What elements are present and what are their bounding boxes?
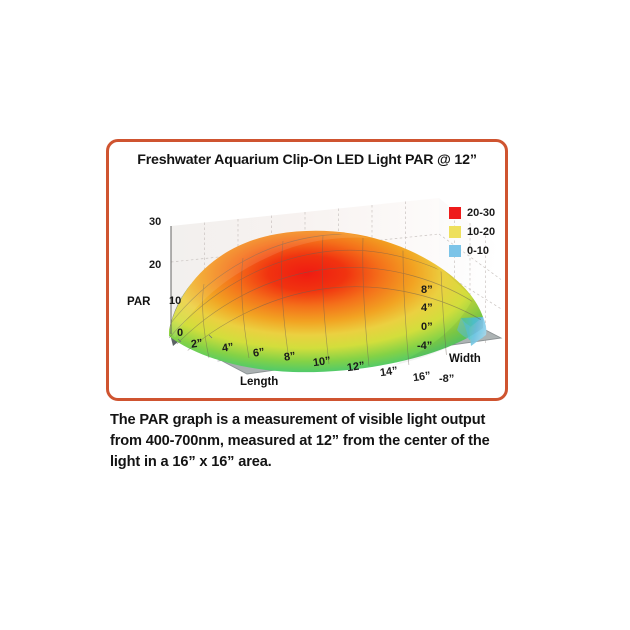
legend-label-0-10: 0-10	[467, 245, 489, 257]
width-tick-neg8: -8”	[439, 373, 454, 385]
length-axis-title: Length	[240, 376, 278, 388]
par-chart-card: Freshwater Aquarium Clip-On LED Light PA…	[106, 139, 508, 401]
length-tick-16: 16”	[412, 370, 431, 384]
chart-title: Freshwater Aquarium Clip-On LED Light PA…	[109, 152, 505, 168]
length-tick-14: 14”	[379, 365, 398, 379]
width-tick-0: 0”	[421, 321, 433, 333]
legend-label-20-30: 20-30	[467, 207, 495, 219]
legend-item-10-20: 10-20	[449, 225, 509, 238]
caption-line-2: from 400-700nm, measured at 12” from the…	[110, 431, 530, 452]
legend-swatch-0-10	[449, 245, 461, 257]
legend-item-0-10: 0-10	[449, 244, 509, 257]
par-tick-20: 20	[149, 259, 161, 271]
par-tick-30: 30	[149, 216, 161, 228]
length-tick-12: 12”	[346, 360, 365, 374]
length-tick-10: 10”	[312, 355, 331, 369]
legend-swatch-20-30	[449, 207, 461, 219]
length-tick-2: 2”	[190, 337, 203, 351]
width-axis-title: Width	[449, 353, 481, 365]
width-tick-8: 8”	[421, 284, 433, 296]
width-tick-neg4: -4”	[417, 340, 432, 352]
par-axis-title: PAR	[127, 296, 150, 308]
chart-legend: 20-30 10-20 0-10	[449, 206, 509, 263]
chart-caption: The PAR graph is a measurement of visibl…	[110, 410, 530, 473]
length-tick-8: 8”	[283, 350, 296, 364]
length-tick-6: 6”	[252, 346, 265, 360]
legend-label-10-20: 10-20	[467, 226, 495, 238]
legend-item-20-30: 20-30	[449, 206, 509, 219]
length-tick-4: 4”	[221, 341, 234, 355]
par-tick-0: 0	[177, 327, 183, 339]
width-tick-4: 4”	[421, 302, 433, 314]
par-tick-10: 10	[169, 295, 181, 307]
caption-line-1: The PAR graph is a measurement of visibl…	[110, 410, 530, 431]
caption-line-3: light in a 16” x 16” area.	[110, 452, 530, 473]
legend-swatch-10-20	[449, 226, 461, 238]
